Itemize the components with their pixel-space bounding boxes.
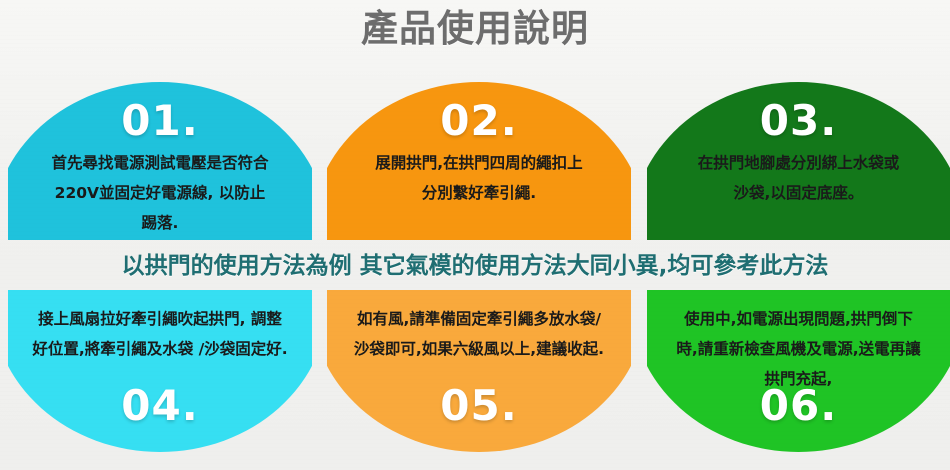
- steps-row-top: 01. 首先尋找電源測試電壓是否符合 220V並固定好電源線, 以防止 踢落. …: [0, 82, 950, 240]
- step-text-03: 在拱門地腳處分別綁上水袋或 沙袋,以固定底座。: [647, 148, 950, 208]
- step-card-05: 05. 如有風,請準備固定牽引繩多放水袋/ 沙袋即可,如果六級風以上,建議收起.: [327, 290, 631, 452]
- step-number-05: 05.: [327, 381, 631, 430]
- step-text-06: 使用中,如電源出現問題,拱門倒下 時,請重新檢查風機及電源,送電再讓 拱門充起,: [647, 304, 950, 394]
- step-card-02: 02. 展開拱門,在拱門四周的繩扣上 分別繫好牽引繩.: [327, 82, 631, 240]
- step-number-02: 02.: [327, 96, 631, 145]
- steps-row-bottom: 04. 接上風扇拉好牽引繩吹起拱門, 調整 好位置,將牽引繩及水袋 /沙袋固定好…: [0, 290, 950, 452]
- step-text-04: 接上風扇拉好牽引繩吹起拱門, 調整 好位置,將牽引繩及水袋 /沙袋固定好.: [8, 304, 312, 364]
- step-card-06: 06. 使用中,如電源出現問題,拱門倒下 時,請重新檢查風機及電源,送電再讓 拱…: [647, 290, 950, 452]
- step-card-01: 01. 首先尋找電源測試電壓是否符合 220V並固定好電源線, 以防止 踢落.: [8, 82, 312, 240]
- step-number-03: 03.: [647, 96, 950, 145]
- step-number-01: 01.: [8, 96, 312, 145]
- page-title: 產品使用說明: [0, 4, 950, 54]
- step-text-01: 首先尋找電源測試電壓是否符合 220V並固定好電源線, 以防止 踢落.: [8, 148, 312, 238]
- product-instructions-poster: 產品使用說明 01. 首先尋找電源測試電壓是否符合 220V並固定好電源線, 以…: [0, 0, 950, 470]
- step-text-02: 展開拱門,在拱門四周的繩扣上 分別繫好牽引繩.: [327, 148, 631, 208]
- step-number-04: 04.: [8, 381, 312, 430]
- step-card-03: 03. 在拱門地腳處分別綁上水袋或 沙袋,以固定底座。: [647, 82, 950, 240]
- banner-note: 以拱門的使用方法為例 其它氣模的使用方法大同小異,均可參考此方法: [0, 246, 950, 286]
- step-text-05: 如有風,請準備固定牽引繩多放水袋/ 沙袋即可,如果六級風以上,建議收起.: [327, 304, 631, 364]
- step-card-04: 04. 接上風扇拉好牽引繩吹起拱門, 調整 好位置,將牽引繩及水袋 /沙袋固定好…: [8, 290, 312, 452]
